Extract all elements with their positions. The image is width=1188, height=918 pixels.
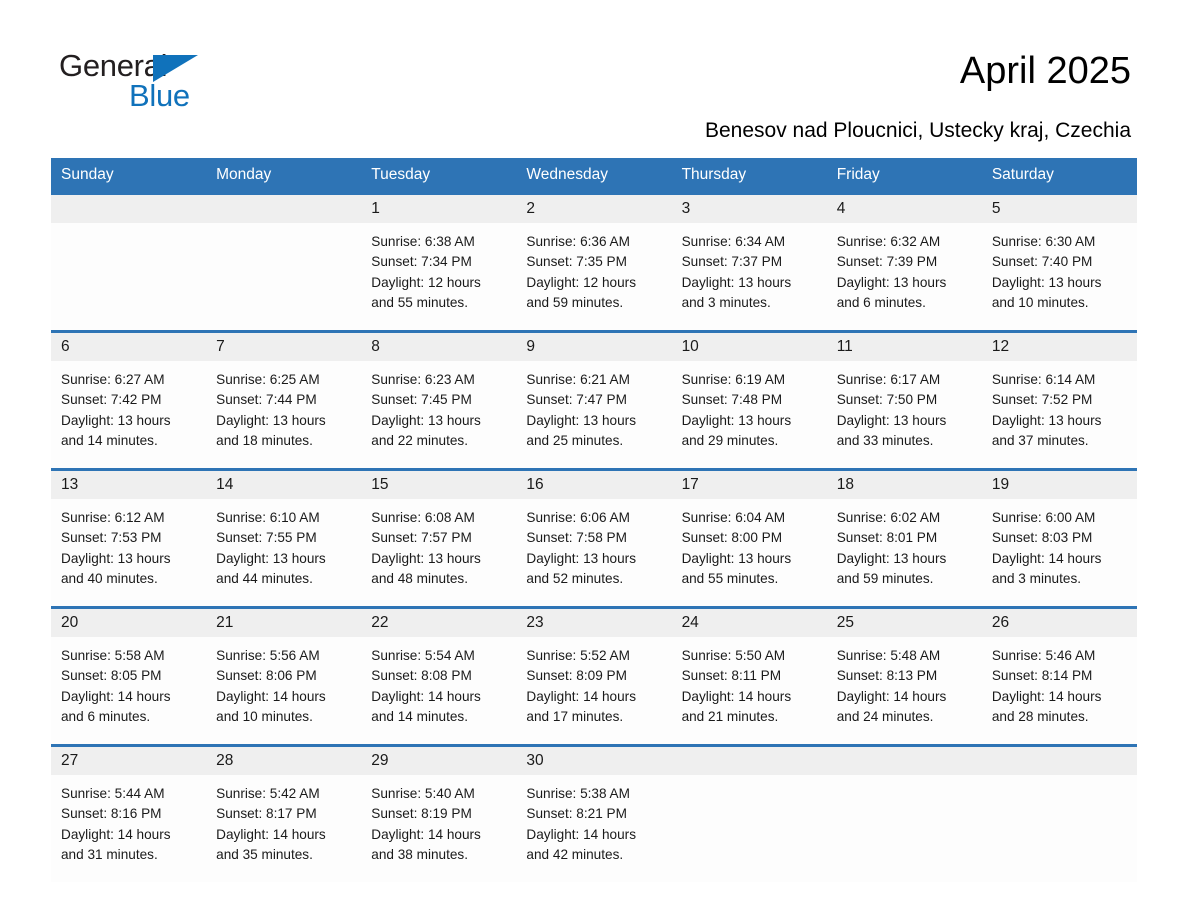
sunset-time: Sunset: 7:55 PM: [216, 528, 353, 548]
sunset-time: Sunset: 7:35 PM: [526, 252, 663, 272]
daylight-duration-line1: Daylight: 13 hours: [837, 273, 974, 293]
sunset-time: Sunset: 7:47 PM: [526, 390, 663, 410]
day-number-band: 15: [361, 471, 516, 499]
sunrise-time: Sunrise: 6:17 AM: [837, 370, 974, 390]
daylight-duration-line2: and 59 minutes.: [526, 293, 663, 313]
day-number-band: 7: [206, 333, 361, 361]
day-details: Sunrise: 5:44 AMSunset: 8:16 PMDaylight:…: [51, 775, 206, 865]
calendar-day-cell[interactable]: 25Sunrise: 5:48 AMSunset: 8:13 PMDayligh…: [827, 608, 982, 746]
calendar-day-cell-empty: [51, 194, 206, 332]
calendar-day-cell[interactable]: 5Sunrise: 6:30 AMSunset: 7:40 PMDaylight…: [982, 194, 1137, 332]
calendar-day-cell[interactable]: 9Sunrise: 6:21 AMSunset: 7:47 PMDaylight…: [516, 332, 671, 470]
day-number-band: 5: [982, 195, 1137, 223]
sunset-time: Sunset: 8:14 PM: [992, 666, 1129, 686]
daylight-duration-line2: and 37 minutes.: [992, 431, 1129, 451]
sunrise-sunset-calendar-table: Sunday Monday Tuesday Wednesday Thursday…: [51, 158, 1137, 882]
daylight-duration-line2: and 55 minutes.: [371, 293, 508, 313]
daylight-duration-line2: and 21 minutes.: [682, 707, 819, 727]
calendar-week-row: 20Sunrise: 5:58 AMSunset: 8:05 PMDayligh…: [51, 608, 1137, 746]
sunrise-time: Sunrise: 6:27 AM: [61, 370, 198, 390]
weekday-header-wednesday: Wednesday: [516, 158, 671, 194]
daylight-duration-line2: and 25 minutes.: [526, 431, 663, 451]
daylight-duration-line1: Daylight: 13 hours: [992, 273, 1129, 293]
sunrise-time: Sunrise: 5:38 AM: [526, 784, 663, 804]
sunrise-time: Sunrise: 6:30 AM: [992, 232, 1129, 252]
page-subtitle-location: Benesov nad Ploucnici, Ustecky kraj, Cze…: [705, 118, 1131, 144]
calendar-day-cell[interactable]: 15Sunrise: 6:08 AMSunset: 7:57 PMDayligh…: [361, 470, 516, 608]
sunset-time: Sunset: 8:17 PM: [216, 804, 353, 824]
day-details: Sunrise: 5:58 AMSunset: 8:05 PMDaylight:…: [51, 637, 206, 727]
day-number-band: 27: [51, 747, 206, 775]
day-number: 2: [526, 200, 535, 218]
page-header: General Blue April 2025 Benesov nad Plou…: [0, 0, 1188, 158]
day-number: 20: [61, 614, 78, 632]
calendar-day-cell[interactable]: 4Sunrise: 6:32 AMSunset: 7:39 PMDaylight…: [827, 194, 982, 332]
daylight-duration-line1: Daylight: 13 hours: [837, 411, 974, 431]
daylight-duration-line1: Daylight: 14 hours: [992, 549, 1129, 569]
weekday-header-saturday: Saturday: [982, 158, 1137, 194]
weekday-header-friday: Friday: [827, 158, 982, 194]
daylight-duration-line2: and 14 minutes.: [61, 431, 198, 451]
daylight-duration-line2: and 55 minutes.: [682, 569, 819, 589]
sunset-time: Sunset: 7:50 PM: [837, 390, 974, 410]
day-number: 27: [61, 752, 78, 770]
calendar-day-cell[interactable]: 20Sunrise: 5:58 AMSunset: 8:05 PMDayligh…: [51, 608, 206, 746]
day-number-band: 1: [361, 195, 516, 223]
daylight-duration-line2: and 6 minutes.: [61, 707, 198, 727]
sunrise-time: Sunrise: 5:42 AM: [216, 784, 353, 804]
sunset-time: Sunset: 7:44 PM: [216, 390, 353, 410]
sunrise-time: Sunrise: 6:00 AM: [992, 508, 1129, 528]
day-details: Sunrise: 6:21 AMSunset: 7:47 PMDaylight:…: [516, 361, 671, 451]
sunrise-time: Sunrise: 6:21 AM: [526, 370, 663, 390]
daylight-duration-line2: and 3 minutes.: [992, 569, 1129, 589]
calendar-day-cell[interactable]: 26Sunrise: 5:46 AMSunset: 8:14 PMDayligh…: [982, 608, 1137, 746]
daylight-duration-line1: Daylight: 13 hours: [682, 549, 819, 569]
day-details: Sunrise: 6:04 AMSunset: 8:00 PMDaylight:…: [672, 499, 827, 589]
day-details: Sunrise: 6:36 AMSunset: 7:35 PMDaylight:…: [516, 223, 671, 313]
day-details: Sunrise: 6:08 AMSunset: 7:57 PMDaylight:…: [361, 499, 516, 589]
sunset-time: Sunset: 7:52 PM: [992, 390, 1129, 410]
day-details: Sunrise: 6:34 AMSunset: 7:37 PMDaylight:…: [672, 223, 827, 313]
daylight-duration-line1: Daylight: 14 hours: [526, 825, 663, 845]
daylight-duration-line2: and 31 minutes.: [61, 845, 198, 865]
day-number-band: 30: [516, 747, 671, 775]
daylight-duration-line1: Daylight: 14 hours: [61, 825, 198, 845]
day-number: 8: [371, 338, 380, 356]
day-number: 22: [371, 614, 388, 632]
day-number: 11: [837, 338, 853, 356]
sunset-time: Sunset: 7:53 PM: [61, 528, 198, 548]
sunset-time: Sunset: 7:40 PM: [992, 252, 1129, 272]
sunset-time: Sunset: 7:37 PM: [682, 252, 819, 272]
calendar-page: General Blue April 2025 Benesov nad Plou…: [0, 0, 1188, 918]
calendar-day-cell[interactable]: 10Sunrise: 6:19 AMSunset: 7:48 PMDayligh…: [672, 332, 827, 470]
sunset-time: Sunset: 8:13 PM: [837, 666, 974, 686]
day-details: Sunrise: 5:40 AMSunset: 8:19 PMDaylight:…: [361, 775, 516, 865]
sunset-time: Sunset: 8:06 PM: [216, 666, 353, 686]
sunrise-time: Sunrise: 5:40 AM: [371, 784, 508, 804]
sunrise-time: Sunrise: 6:02 AM: [837, 508, 974, 528]
day-details: Sunrise: 5:52 AMSunset: 8:09 PMDaylight:…: [516, 637, 671, 727]
daylight-duration-line2: and 44 minutes.: [216, 569, 353, 589]
daylight-duration-line2: and 18 minutes.: [216, 431, 353, 451]
day-details: Sunrise: 6:30 AMSunset: 7:40 PMDaylight:…: [982, 223, 1137, 313]
daylight-duration-line1: Daylight: 13 hours: [216, 549, 353, 569]
daylight-duration-line1: Daylight: 12 hours: [526, 273, 663, 293]
calendar-day-cell[interactable]: 12Sunrise: 6:14 AMSunset: 7:52 PMDayligh…: [982, 332, 1137, 470]
daylight-duration-line2: and 59 minutes.: [837, 569, 974, 589]
calendar-day-cell[interactable]: 24Sunrise: 5:50 AMSunset: 8:11 PMDayligh…: [672, 608, 827, 746]
calendar-day-cell[interactable]: 6Sunrise: 6:27 AMSunset: 7:42 PMDaylight…: [51, 332, 206, 470]
day-number: 9: [526, 338, 535, 356]
day-number-band: 28: [206, 747, 361, 775]
calendar-day-cell-empty: [982, 746, 1137, 883]
sunset-time: Sunset: 8:01 PM: [837, 528, 974, 548]
day-number-band: 14: [206, 471, 361, 499]
day-number-band: 9: [516, 333, 671, 361]
daylight-duration-line1: Daylight: 13 hours: [682, 273, 819, 293]
daylight-duration-line2: and 38 minutes.: [371, 845, 508, 865]
daylight-duration-line2: and 10 minutes.: [992, 293, 1129, 313]
day-number: 10: [682, 338, 699, 356]
day-details: Sunrise: 6:14 AMSunset: 7:52 PMDaylight:…: [982, 361, 1137, 451]
weekday-header-monday: Monday: [206, 158, 361, 194]
daylight-duration-line1: Daylight: 12 hours: [371, 273, 508, 293]
sunrise-time: Sunrise: 6:23 AM: [371, 370, 508, 390]
calendar-day-cell[interactable]: 2Sunrise: 6:36 AMSunset: 7:35 PMDaylight…: [516, 194, 671, 332]
daylight-duration-line1: Daylight: 14 hours: [216, 825, 353, 845]
sunrise-time: Sunrise: 5:50 AM: [682, 646, 819, 666]
calendar-week-row: 13Sunrise: 6:12 AMSunset: 7:53 PMDayligh…: [51, 470, 1137, 608]
daylight-duration-line2: and 6 minutes.: [837, 293, 974, 313]
day-number-band: 18: [827, 471, 982, 499]
day-number-band: [672, 747, 827, 775]
calendar-day-cell[interactable]: 18Sunrise: 6:02 AMSunset: 8:01 PMDayligh…: [827, 470, 982, 608]
daylight-duration-line1: Daylight: 14 hours: [61, 687, 198, 707]
sunrise-time: Sunrise: 5:54 AM: [371, 646, 508, 666]
calendar-day-cell[interactable]: 14Sunrise: 6:10 AMSunset: 7:55 PMDayligh…: [206, 470, 361, 608]
day-details: Sunrise: 6:19 AMSunset: 7:48 PMDaylight:…: [672, 361, 827, 451]
day-details: Sunrise: 6:25 AMSunset: 7:44 PMDaylight:…: [206, 361, 361, 451]
calendar-body: 1Sunrise: 6:38 AMSunset: 7:34 PMDaylight…: [51, 194, 1137, 883]
day-number: 19: [992, 476, 1009, 494]
sunset-time: Sunset: 8:11 PM: [682, 666, 819, 686]
daylight-duration-line1: Daylight: 13 hours: [992, 411, 1129, 431]
daylight-duration-line1: Daylight: 13 hours: [682, 411, 819, 431]
day-details: Sunrise: 6:38 AMSunset: 7:34 PMDaylight:…: [361, 223, 516, 313]
daylight-duration-line1: Daylight: 13 hours: [526, 411, 663, 431]
day-details: Sunrise: 5:38 AMSunset: 8:21 PMDaylight:…: [516, 775, 671, 865]
calendar-day-cell[interactable]: 17Sunrise: 6:04 AMSunset: 8:00 PMDayligh…: [672, 470, 827, 608]
daylight-duration-line1: Daylight: 14 hours: [371, 825, 508, 845]
general-blue-logo: General Blue: [59, 49, 309, 124]
day-number-band: 11: [827, 333, 982, 361]
calendar-day-cell[interactable]: 3Sunrise: 6:34 AMSunset: 7:37 PMDaylight…: [672, 194, 827, 332]
sunrise-time: Sunrise: 5:52 AM: [526, 646, 663, 666]
day-details: Sunrise: 5:42 AMSunset: 8:17 PMDaylight:…: [206, 775, 361, 865]
calendar-day-cell[interactable]: 29Sunrise: 5:40 AMSunset: 8:19 PMDayligh…: [361, 746, 516, 883]
day-number-band: [982, 747, 1137, 775]
calendar-day-cell-empty: [672, 746, 827, 883]
day-details: Sunrise: 5:46 AMSunset: 8:14 PMDaylight:…: [982, 637, 1137, 727]
weekday-header-tuesday: Tuesday: [361, 158, 516, 194]
day-number-band: 4: [827, 195, 982, 223]
day-number-band: 12: [982, 333, 1137, 361]
sunrise-time: Sunrise: 6:38 AM: [371, 232, 508, 252]
sunrise-time: Sunrise: 6:25 AM: [216, 370, 353, 390]
daylight-duration-line2: and 35 minutes.: [216, 845, 353, 865]
day-number: 24: [682, 614, 699, 632]
daylight-duration-line1: Daylight: 13 hours: [371, 549, 508, 569]
sunrise-time: Sunrise: 6:04 AM: [682, 508, 819, 528]
day-number-band: 6: [51, 333, 206, 361]
day-number: 12: [992, 338, 1009, 356]
sunset-time: Sunset: 7:58 PM: [526, 528, 663, 548]
day-details: Sunrise: 5:54 AMSunset: 8:08 PMDaylight:…: [361, 637, 516, 727]
day-details: Sunrise: 5:48 AMSunset: 8:13 PMDaylight:…: [827, 637, 982, 727]
sunrise-time: Sunrise: 6:14 AM: [992, 370, 1129, 390]
day-number: 17: [682, 476, 699, 494]
sunrise-time: Sunrise: 5:44 AM: [61, 784, 198, 804]
day-number-band: 8: [361, 333, 516, 361]
sunset-time: Sunset: 8:05 PM: [61, 666, 198, 686]
sunrise-time: Sunrise: 6:32 AM: [837, 232, 974, 252]
sunrise-time: Sunrise: 6:19 AM: [682, 370, 819, 390]
day-number-band: 16: [516, 471, 671, 499]
calendar-day-cell-empty: [827, 746, 982, 883]
day-details: Sunrise: 6:06 AMSunset: 7:58 PMDaylight:…: [516, 499, 671, 589]
day-number: 23: [526, 614, 543, 632]
day-number: 28: [216, 752, 233, 770]
weekday-header-sunday: Sunday: [51, 158, 206, 194]
day-number-band: 21: [206, 609, 361, 637]
day-details: Sunrise: 6:00 AMSunset: 8:03 PMDaylight:…: [982, 499, 1137, 589]
day-number: 3: [682, 200, 691, 218]
daylight-duration-line2: and 14 minutes.: [371, 707, 508, 727]
day-number: 1: [371, 200, 380, 218]
day-details: Sunrise: 6:12 AMSunset: 7:53 PMDaylight:…: [51, 499, 206, 589]
calendar-day-cell[interactable]: 8Sunrise: 6:23 AMSunset: 7:45 PMDaylight…: [361, 332, 516, 470]
day-number: 25: [837, 614, 854, 632]
day-number-band: 3: [672, 195, 827, 223]
daylight-duration-line1: Daylight: 14 hours: [682, 687, 819, 707]
daylight-duration-line2: and 29 minutes.: [682, 431, 819, 451]
day-number: 16: [526, 476, 543, 494]
day-details: Sunrise: 6:32 AMSunset: 7:39 PMDaylight:…: [827, 223, 982, 313]
day-number: 21: [216, 614, 233, 632]
daylight-duration-line2: and 52 minutes.: [526, 569, 663, 589]
calendar-day-cell[interactable]: 11Sunrise: 6:17 AMSunset: 7:50 PMDayligh…: [827, 332, 982, 470]
sunrise-time: Sunrise: 5:56 AM: [216, 646, 353, 666]
sunset-time: Sunset: 7:57 PM: [371, 528, 508, 548]
day-number-band: [51, 195, 206, 223]
day-details: Sunrise: 6:02 AMSunset: 8:01 PMDaylight:…: [827, 499, 982, 589]
daylight-duration-line1: Daylight: 13 hours: [216, 411, 353, 431]
sunset-time: Sunset: 8:03 PM: [992, 528, 1129, 548]
calendar-day-cell[interactable]: 7Sunrise: 6:25 AMSunset: 7:44 PMDaylight…: [206, 332, 361, 470]
day-number: 13: [61, 476, 78, 494]
day-number-band: 23: [516, 609, 671, 637]
day-number: 18: [837, 476, 854, 494]
daylight-duration-line2: and 10 minutes.: [216, 707, 353, 727]
sunset-time: Sunset: 7:39 PM: [837, 252, 974, 272]
sunrise-time: Sunrise: 6:06 AM: [526, 508, 663, 528]
calendar-day-cell[interactable]: 21Sunrise: 5:56 AMSunset: 8:06 PMDayligh…: [206, 608, 361, 746]
day-details: Sunrise: 6:23 AMSunset: 7:45 PMDaylight:…: [361, 361, 516, 451]
daylight-duration-line1: Daylight: 14 hours: [371, 687, 508, 707]
sunset-time: Sunset: 7:45 PM: [371, 390, 508, 410]
sunrise-time: Sunrise: 5:46 AM: [992, 646, 1129, 666]
sunset-time: Sunset: 8:09 PM: [526, 666, 663, 686]
calendar-day-cell[interactable]: 19Sunrise: 6:00 AMSunset: 8:03 PMDayligh…: [982, 470, 1137, 608]
calendar-week-row: 6Sunrise: 6:27 AMSunset: 7:42 PMDaylight…: [51, 332, 1137, 470]
daylight-duration-line1: Daylight: 14 hours: [837, 687, 974, 707]
day-number-band: 26: [982, 609, 1137, 637]
calendar-day-cell[interactable]: 27Sunrise: 5:44 AMSunset: 8:16 PMDayligh…: [51, 746, 206, 883]
day-number-band: 19: [982, 471, 1137, 499]
day-number: 30: [526, 752, 543, 770]
daylight-duration-line2: and 24 minutes.: [837, 707, 974, 727]
calendar-day-cell[interactable]: 30Sunrise: 5:38 AMSunset: 8:21 PMDayligh…: [516, 746, 671, 883]
sunrise-time: Sunrise: 6:34 AM: [682, 232, 819, 252]
calendar-week-row: 1Sunrise: 6:38 AMSunset: 7:34 PMDaylight…: [51, 194, 1137, 332]
sunrise-time: Sunrise: 5:48 AM: [837, 646, 974, 666]
daylight-duration-line2: and 3 minutes.: [682, 293, 819, 313]
day-number-band: 20: [51, 609, 206, 637]
sunset-time: Sunset: 8:19 PM: [371, 804, 508, 824]
day-number-band: 22: [361, 609, 516, 637]
daylight-duration-line1: Daylight: 13 hours: [371, 411, 508, 431]
day-number-band: 2: [516, 195, 671, 223]
day-number-band: [827, 747, 982, 775]
calendar-week-row: 27Sunrise: 5:44 AMSunset: 8:16 PMDayligh…: [51, 746, 1137, 883]
sunset-time: Sunset: 7:48 PM: [682, 390, 819, 410]
day-number-band: 29: [361, 747, 516, 775]
daylight-duration-line1: Daylight: 13 hours: [61, 549, 198, 569]
logo-text-blue: Blue: [129, 79, 190, 113]
calendar-day-cell[interactable]: 28Sunrise: 5:42 AMSunset: 8:17 PMDayligh…: [206, 746, 361, 883]
day-details: Sunrise: 6:27 AMSunset: 7:42 PMDaylight:…: [51, 361, 206, 451]
daylight-duration-line1: Daylight: 14 hours: [216, 687, 353, 707]
day-number-band: 13: [51, 471, 206, 499]
day-number-band: 10: [672, 333, 827, 361]
daylight-duration-line1: Daylight: 13 hours: [61, 411, 198, 431]
sunrise-time: Sunrise: 6:36 AM: [526, 232, 663, 252]
daylight-duration-line2: and 17 minutes.: [526, 707, 663, 727]
day-number: 15: [371, 476, 388, 494]
daylight-duration-line2: and 42 minutes.: [526, 845, 663, 865]
daylight-duration-line1: Daylight: 13 hours: [526, 549, 663, 569]
day-number: 4: [837, 200, 846, 218]
sunrise-time: Sunrise: 6:08 AM: [371, 508, 508, 528]
daylight-duration-line2: and 48 minutes.: [371, 569, 508, 589]
sunrise-time: Sunrise: 6:12 AM: [61, 508, 198, 528]
calendar-header-row: Sunday Monday Tuesday Wednesday Thursday…: [51, 158, 1137, 194]
calendar-day-cell[interactable]: 23Sunrise: 5:52 AMSunset: 8:09 PMDayligh…: [516, 608, 671, 746]
sunrise-time: Sunrise: 5:58 AM: [61, 646, 198, 666]
daylight-duration-line2: and 22 minutes.: [371, 431, 508, 451]
day-number: 26: [992, 614, 1009, 632]
day-number-band: [206, 195, 361, 223]
calendar-day-cell[interactable]: 13Sunrise: 6:12 AMSunset: 7:53 PMDayligh…: [51, 470, 206, 608]
day-details: Sunrise: 5:56 AMSunset: 8:06 PMDaylight:…: [206, 637, 361, 727]
day-number: 7: [216, 338, 225, 356]
daylight-duration-line2: and 28 minutes.: [992, 707, 1129, 727]
sunset-time: Sunset: 8:00 PM: [682, 528, 819, 548]
sunset-time: Sunset: 8:21 PM: [526, 804, 663, 824]
day-details: Sunrise: 5:50 AMSunset: 8:11 PMDaylight:…: [672, 637, 827, 727]
day-details: Sunrise: 6:17 AMSunset: 7:50 PMDaylight:…: [827, 361, 982, 451]
daylight-duration-line1: Daylight: 13 hours: [837, 549, 974, 569]
day-number: 14: [216, 476, 233, 494]
sunset-time: Sunset: 7:34 PM: [371, 252, 508, 272]
day-number-band: 17: [672, 471, 827, 499]
day-details: Sunrise: 6:10 AMSunset: 7:55 PMDaylight:…: [206, 499, 361, 589]
calendar-day-cell[interactable]: 1Sunrise: 6:38 AMSunset: 7:34 PMDaylight…: [361, 194, 516, 332]
day-number: 5: [992, 200, 1001, 218]
daylight-duration-line1: Daylight: 14 hours: [992, 687, 1129, 707]
day-number-band: 25: [827, 609, 982, 637]
daylight-duration-line1: Daylight: 14 hours: [526, 687, 663, 707]
daylight-duration-line2: and 40 minutes.: [61, 569, 198, 589]
daylight-duration-line2: and 33 minutes.: [837, 431, 974, 451]
day-number-band: 24: [672, 609, 827, 637]
calendar-day-cell[interactable]: 22Sunrise: 5:54 AMSunset: 8:08 PMDayligh…: [361, 608, 516, 746]
page-title: April 2025: [960, 48, 1131, 94]
sunset-time: Sunset: 7:42 PM: [61, 390, 198, 410]
sunset-time: Sunset: 8:08 PM: [371, 666, 508, 686]
sunrise-time: Sunrise: 6:10 AM: [216, 508, 353, 528]
day-number: 29: [371, 752, 388, 770]
weekday-header-thursday: Thursday: [672, 158, 827, 194]
day-number: 6: [61, 338, 70, 356]
calendar-day-cell[interactable]: 16Sunrise: 6:06 AMSunset: 7:58 PMDayligh…: [516, 470, 671, 608]
sunset-time: Sunset: 8:16 PM: [61, 804, 198, 824]
calendar-day-cell-empty: [206, 194, 361, 332]
